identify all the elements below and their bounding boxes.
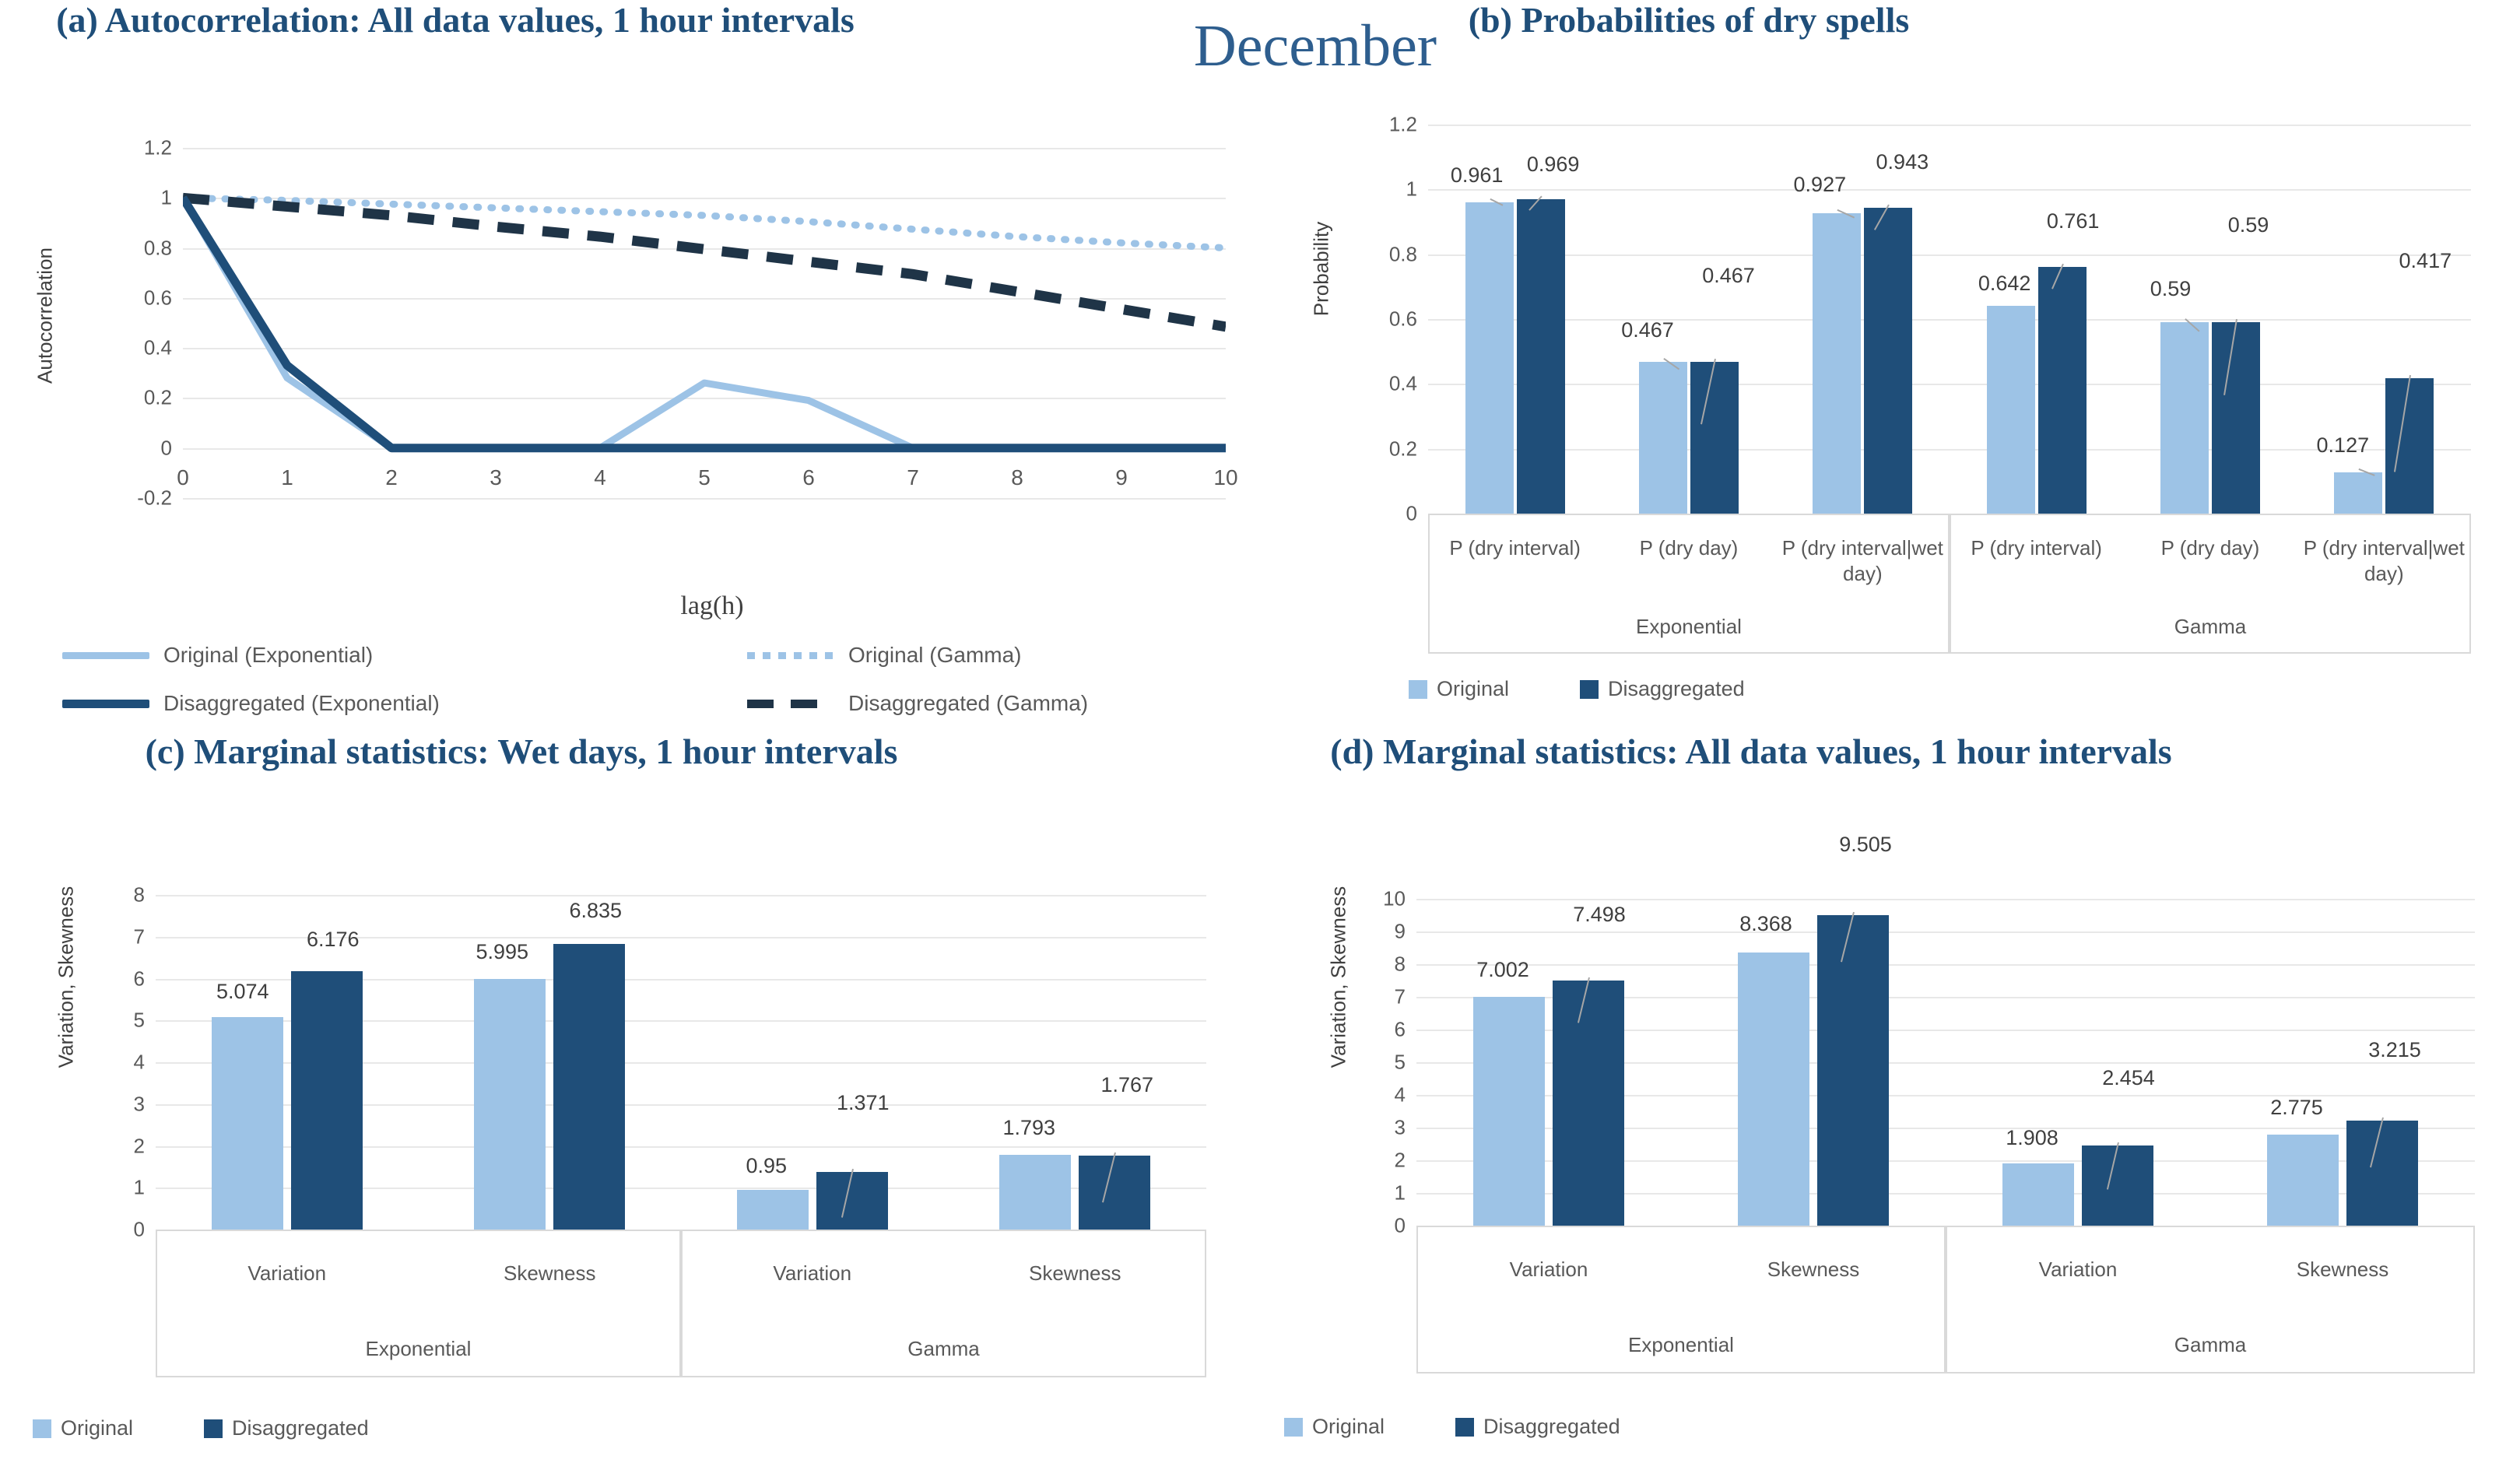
panel-a-x-axis-label: lag(h) [416,591,1008,621]
legend-swatch-disaggregated-icon [1455,1418,1474,1437]
bar[interactable] [1079,1156,1150,1230]
line-swatch-solid-light-icon [62,652,149,659]
panel-b-dry-spells: (b) Probabilities of dry spells Probabil… [1261,0,2520,731]
bar-value-label: 3.215 [2368,1038,2421,1062]
bar-value-label: 6.835 [569,899,622,923]
x-axis-tick: 1 [281,465,293,490]
y-axis-tick: 0.2 [1389,437,1417,461]
bar-value-label: 0.417 [2399,249,2452,273]
y-axis-tick: 1.2 [144,136,172,160]
y-axis-tick: 0 [161,436,172,460]
gridline [183,498,1226,500]
bar[interactable] [212,1017,283,1230]
y-axis-tick: 0 [134,1218,145,1242]
bar[interactable] [2082,1145,2153,1226]
panel-a-autocorrelation: (a) Autocorrelation: All data values, 1 … [0,0,1261,731]
bar-value-label: 1.371 [837,1091,890,1115]
gridline [1428,189,2471,191]
y-axis-tick: 10 [1383,887,1406,911]
bar[interactable] [2346,1121,2418,1226]
x-axis-tick: 4 [594,465,606,490]
bar[interactable] [291,971,363,1230]
panel-d-legend-item-1[interactable]: Disaggregated [1455,1415,1620,1439]
legend-swatch-original-icon [33,1419,51,1438]
bar-value-label: 0.59 [2150,277,2192,301]
bar-value-label: 9.505 [1839,833,1892,857]
y-axis-tick: 0.6 [144,286,172,310]
bar[interactable] [816,1172,888,1230]
panel-c-legend-item-0[interactable]: Original [33,1416,133,1440]
panel-c-y-axis-label: Variation, Skewness [54,822,79,1133]
y-axis-tick: 4 [1395,1083,1406,1107]
y-axis-tick: 0.2 [144,386,172,410]
y-axis-tick: -0.2 [137,486,172,510]
gridline [1428,384,2471,385]
bar-value-label: 6.176 [307,928,360,952]
y-axis-tick: 0.4 [144,336,172,360]
line-series [183,198,1226,247]
panel-c-plot-area: 0123456785.0746.1765.9956.8350.951.3711.… [156,895,1206,1230]
y-axis-tick: 6 [134,967,145,991]
panel-c-marginal-wet-days: (c) Marginal statistics: Wet days, 1 hou… [0,731,1261,1463]
bar[interactable] [1639,362,1687,514]
panel-c-legend-label-0: Original [61,1416,133,1440]
y-axis-tick: 0.6 [1389,307,1417,332]
panel-c-category-axis: VariationSkewnessVariationSkewnessExpone… [156,1230,1206,1370]
bar-value-label: 0.127 [2317,433,2370,458]
panel-b-legend-label-0: Original [1437,677,1509,701]
bar-value-label: 0.467 [1702,264,1755,288]
panel-b-legend-item-0[interactable]: Original [1409,677,1509,701]
bar-value-label: 2.775 [2270,1096,2323,1120]
x-axis-tick: 6 [802,465,815,490]
bar-value-label: 0.59 [2228,213,2269,237]
panel-a-legend-label-3: Disaggregated (Gamma) [848,691,1088,716]
bar-value-label: 1.767 [1100,1073,1153,1097]
group-label: Exponential [156,1337,681,1361]
bar[interactable] [1690,362,1739,514]
panel-d-plot-area: 0123456789107.0027.4988.3689.5051.9082.4… [1416,899,2475,1226]
panel-a-legend-item-0[interactable]: Original (Exponential) [62,643,373,668]
panel-d-legend-item-0[interactable]: Original [1284,1415,1385,1439]
panel-b-legend-item-1[interactable]: Disaggregated [1580,677,1745,701]
bar[interactable] [737,1190,809,1230]
panel-d-category-axis: VariationSkewnessVariationSkewnessExpone… [1416,1226,2475,1366]
gridline [156,895,1206,896]
panel-c-legend-label-1: Disaggregated [232,1416,369,1440]
legend-swatch-disaggregated-icon [204,1419,223,1438]
legend-swatch-original-icon [1284,1418,1303,1437]
bar[interactable] [1517,199,1565,514]
gridline [1428,319,2471,321]
group-label: Exponential [1428,615,1950,639]
group-label: Gamma [681,1337,1206,1361]
x-axis-tick: 5 [698,465,711,490]
bar[interactable] [1864,208,1912,514]
panel-b-legend-label-1: Disaggregated [1608,677,1745,701]
y-axis-tick: 7 [134,924,145,949]
bar[interactable] [2212,322,2260,514]
x-axis-tick: 2 [385,465,398,490]
y-axis-tick: 1 [1395,1181,1406,1205]
gridline [1416,964,2475,966]
panel-d-marginal-all-values: (d) Marginal statistics: All data values… [1261,731,2520,1463]
legend-swatch-disaggregated-icon [1580,680,1599,699]
bar-value-label: 5.995 [476,940,528,964]
y-axis-tick: 8 [134,883,145,907]
group-label: Gamma [1950,615,2471,639]
bar-value-label: 0.467 [1621,318,1674,342]
gridline [1416,931,2475,933]
y-axis-tick: 1 [1406,177,1417,202]
bar[interactable] [1813,213,1861,514]
panel-a-legend-label-2: Disaggregated (Exponential) [163,691,440,716]
bar[interactable] [2002,1163,2074,1226]
bar-value-label: 5.074 [216,980,269,1004]
y-axis-tick: 3 [1395,1116,1406,1140]
y-axis-tick: 0 [1395,1214,1406,1238]
bar-value-label: 0.927 [1794,173,1847,197]
bar[interactable] [1553,981,1624,1226]
x-axis-tick: 9 [1115,465,1128,490]
y-axis-tick: 9 [1395,920,1406,944]
panel-d-legend-label-1: Disaggregated [1483,1415,1620,1439]
panel-a-legend-label-0: Original (Exponential) [163,643,373,668]
y-axis-tick: 7 [1395,985,1406,1009]
y-axis-tick: 3 [134,1092,145,1116]
group-label: Exponential [1416,1333,1946,1357]
panel-c-title: (c) Marginal statistics: Wet days, 1 hou… [0,731,1043,773]
panel-b-title: (b) Probabilities of dry spells [1261,0,2117,41]
bar[interactable] [1738,953,1809,1226]
y-axis-tick: 2 [1395,1149,1406,1173]
y-axis-tick: 6 [1395,1018,1406,1042]
panel-b-y-axis-label: Probability [1310,176,1334,363]
y-axis-tick: 0.8 [144,236,172,260]
x-axis-tick: 3 [490,465,502,490]
bar-value-label: 1.908 [2006,1126,2058,1150]
x-axis-tick: 7 [907,465,919,490]
panel-a-plot-area: -0.200.20.40.60.811.2012345678910 [183,148,1226,498]
bar-value-label: 1.793 [1002,1116,1055,1140]
y-axis-tick: 1.2 [1389,113,1417,137]
bar-value-label: 7.002 [1476,958,1529,982]
y-axis-tick: 0.4 [1389,372,1417,396]
line-series [183,198,1226,447]
y-axis-tick: 0 [1406,502,1417,526]
bar-value-label: 0.761 [2047,209,2100,233]
panel-a-legend-item-3[interactable]: Disaggregated (Gamma) [747,691,1088,716]
panel-d-y-axis-label: Variation, Skewness [1327,822,1351,1133]
panel-a-title: (a) Autocorrelation: All data values, 1 … [0,0,911,41]
x-axis-tick: 0 [177,465,189,490]
bar-value-label: 0.642 [1978,272,2031,296]
y-axis-tick: 2 [134,1134,145,1158]
y-axis-tick: 4 [134,1051,145,1075]
bar[interactable] [2334,472,2382,514]
group-label: Gamma [1946,1333,2475,1357]
line-swatch-dotted-light-icon [747,652,834,659]
y-axis-tick: 5 [134,1009,145,1033]
bar[interactable] [999,1155,1071,1230]
panel-d-title: (d) Marginal statistics: All data values… [1261,731,2241,773]
panel-a-legend-item-1[interactable]: Original (Gamma) [747,643,1021,668]
panel-a-y-axis-label: Autocorrelation [33,199,58,433]
bar[interactable] [1817,915,1889,1226]
y-axis-tick: 8 [1395,953,1406,977]
panel-d-legend-label-0: Original [1312,1415,1385,1439]
bar[interactable] [553,944,625,1230]
panel-b-plot-area: 00.20.40.60.811.20.9610.9690.4670.4670.9… [1428,125,2471,514]
gridline [1416,899,2475,900]
bar-value-label: 8.368 [1739,912,1792,936]
bar-value-label: 0.943 [1876,150,1929,174]
y-axis-tick: 1 [161,186,172,210]
bar[interactable] [2038,267,2087,514]
autocorrelation-lines [183,148,1226,498]
panel-c-legend-item-1[interactable]: Disaggregated [204,1416,369,1440]
line-swatch-dashed-dark-icon [747,700,834,708]
bar[interactable] [1987,306,2035,514]
bar-value-label: 2.454 [2102,1066,2155,1090]
bar-value-label: 0.961 [1451,163,1504,188]
bar[interactable] [1473,997,1545,1226]
bar-value-label: 0.95 [746,1154,787,1178]
panel-b-category-axis: P (dry interval)P (dry day)P (dry interv… [1428,514,2471,669]
bar[interactable] [474,979,546,1230]
panel-a-legend-item-2[interactable]: Disaggregated (Exponential) [62,691,440,716]
bar-value-label: 7.498 [1573,903,1626,927]
gridline [1428,125,2471,126]
y-axis-tick: 1 [134,1176,145,1200]
gridline [1428,449,2471,451]
legend-swatch-original-icon [1409,680,1427,699]
bar[interactable] [1465,202,1514,514]
bar[interactable] [2160,322,2209,514]
bar[interactable] [2267,1135,2339,1226]
bar-value-label: 0.969 [1527,153,1580,177]
gridline [1428,254,2471,256]
bar[interactable] [2385,378,2434,514]
y-axis-tick: 5 [1395,1051,1406,1075]
x-axis-tick: 10 [1213,465,1237,490]
line-swatch-solid-dark-icon [62,700,149,708]
panel-a-legend-label-1: Original (Gamma) [848,643,1021,668]
x-axis-tick: 8 [1011,465,1023,490]
y-axis-tick: 0.8 [1389,242,1417,266]
